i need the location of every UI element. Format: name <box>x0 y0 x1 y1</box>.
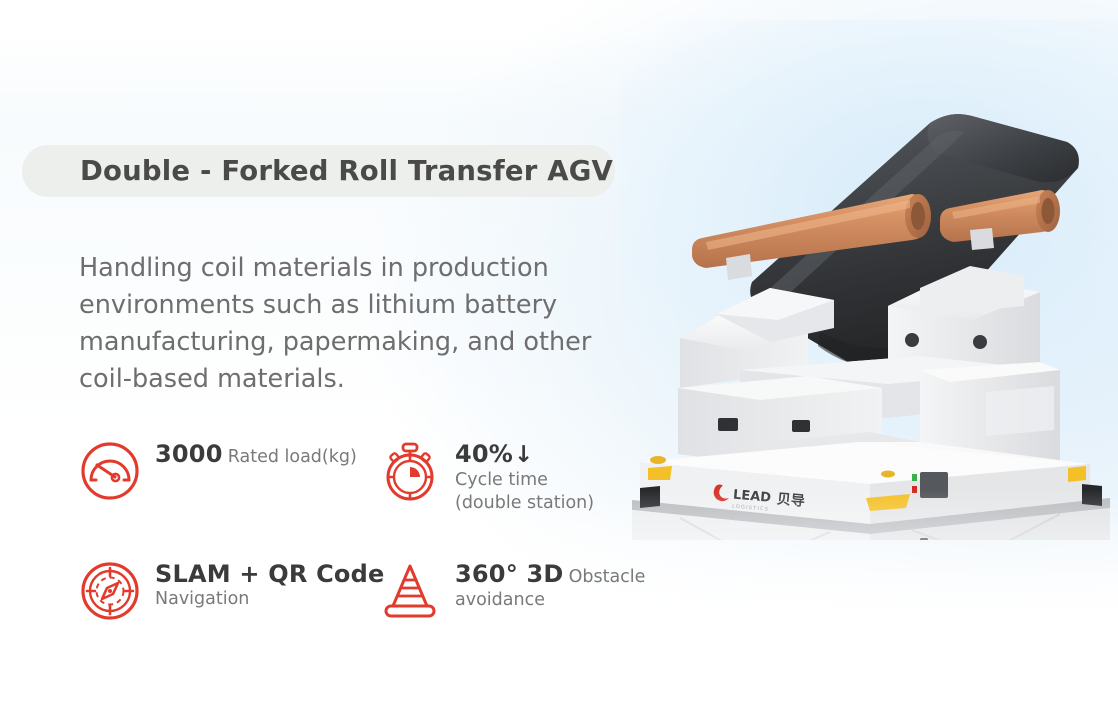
spec-text: 40%↓ Cycle time (double station) <box>455 438 594 515</box>
down-arrow-icon: ↓ <box>514 442 533 468</box>
spec-text: SLAM + QR Code Navigation <box>155 558 384 611</box>
spec-label: Navigation <box>155 589 249 609</box>
spec-item-obstacle-avoidance: 360° 3D Obstacle avoidance <box>379 558 649 622</box>
spec-item-navigation: SLAM + QR Code Navigation <box>79 558 379 622</box>
spec-text: 360° 3D Obstacle avoidance <box>455 558 649 612</box>
corner-marker <box>648 466 672 480</box>
spec-row-1: 3000 Rated load(kg) <box>79 438 649 558</box>
page-title: Double - Forked Roll Transfer AGV <box>80 155 620 187</box>
spec-label: Rated load(kg) <box>228 447 357 467</box>
spec-value: 3000 <box>155 440 223 468</box>
product-image: LEAD 贝导 LOGISTICS <box>620 70 1118 540</box>
product-slide: LEAD 贝导 LOGISTICS Double - Forked Roll T… <box>0 0 1118 719</box>
gauge-icon <box>79 440 141 502</box>
compass-icon <box>79 560 141 622</box>
spec-grid: 3000 Rated load(kg) <box>79 438 649 622</box>
spec-value: SLAM + QR Code <box>155 560 384 588</box>
spec-text: 3000 Rated load(kg) <box>155 438 357 469</box>
corner-marker <box>1068 466 1086 482</box>
spec-value: 40%↓ <box>455 440 534 468</box>
spec-item-rated-load: 3000 Rated load(kg) <box>79 438 379 558</box>
product-description: Handling coil materials in production en… <box>79 250 645 398</box>
spec-value: 360° 3D <box>455 560 563 588</box>
spec-label: Cycle time (double station) <box>455 469 594 515</box>
stopwatch-icon <box>379 440 441 502</box>
traffic-cone-icon <box>379 560 441 622</box>
spec-item-cycle-time: 40%↓ Cycle time (double station) <box>379 438 649 558</box>
spec-row-2: SLAM + QR Code Navigation 360° 3D Obstac… <box>79 558 649 622</box>
